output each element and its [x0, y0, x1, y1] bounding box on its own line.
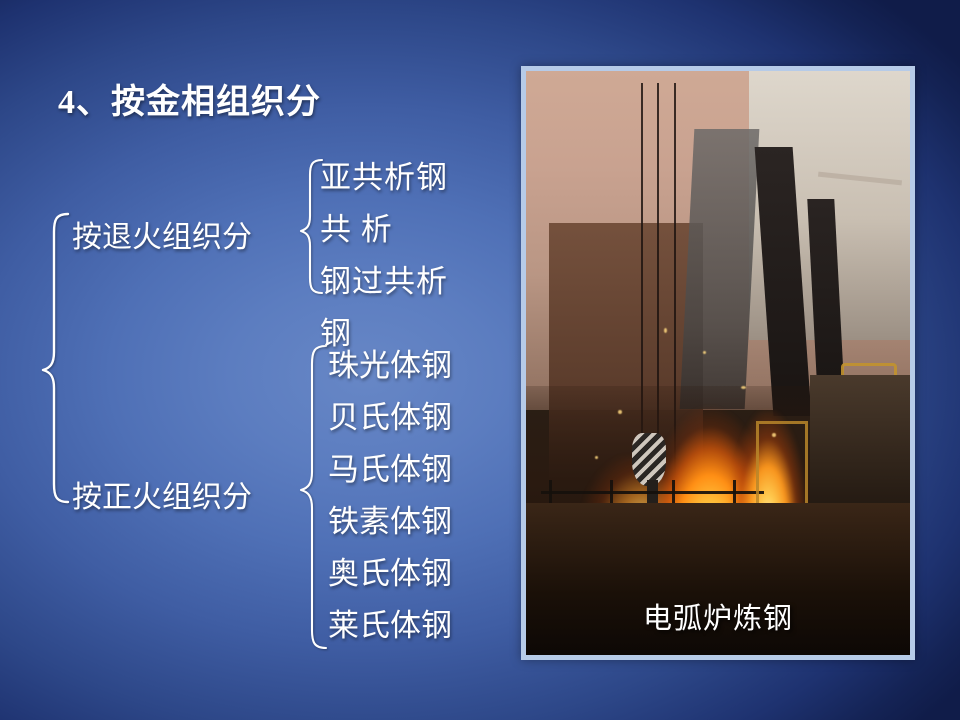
- anneal-item-list: 亚共析钢 共 析 钢过共析 钢: [320, 152, 448, 360]
- category-label-normalize: 按正火组织分: [72, 472, 252, 516]
- slide-canvas: 4、按金相组织分 按退火组织分 按正火组织分 亚共析钢 共 析 钢过共析 钢 珠…: [0, 0, 960, 720]
- photo-frame: 电弧炉炼钢: [521, 66, 915, 660]
- photo-caption: 电弧炉炼钢: [526, 595, 910, 637]
- list-item: 奥氏体钢: [328, 548, 452, 600]
- photo-railing: [541, 491, 764, 494]
- list-item: 珠光体钢: [328, 340, 452, 392]
- list-item: 亚共析钢: [320, 152, 448, 204]
- list-item: 贝氏体钢: [328, 392, 452, 444]
- list-item: 马氏体钢: [328, 444, 452, 496]
- list-item: 铁素体钢: [328, 496, 452, 548]
- classification-diagram: 按退火组织分 按正火组织分 亚共析钢 共 析 钢过共析 钢 珠光体钢 贝氏体钢 …: [0, 0, 520, 720]
- category-label-anneal: 按退火组织分: [72, 212, 252, 256]
- normalize-item-list: 珠光体钢 贝氏体钢 马氏体钢 铁素体钢 奥氏体钢 莱氏体钢: [328, 340, 452, 652]
- photo-spark: [772, 433, 776, 437]
- outer-brace-icon: [43, 214, 68, 502]
- anneal-brace-icon: [301, 160, 322, 293]
- list-item: 共 析: [320, 204, 448, 256]
- list-item: 钢过共析: [320, 256, 448, 308]
- normalize-brace-icon: [301, 346, 326, 648]
- photo-crane-hook: [632, 433, 667, 486]
- photo-spark: [618, 410, 622, 414]
- list-item: 莱氏体钢: [328, 600, 452, 652]
- furnace-photo: 电弧炉炼钢: [526, 71, 910, 655]
